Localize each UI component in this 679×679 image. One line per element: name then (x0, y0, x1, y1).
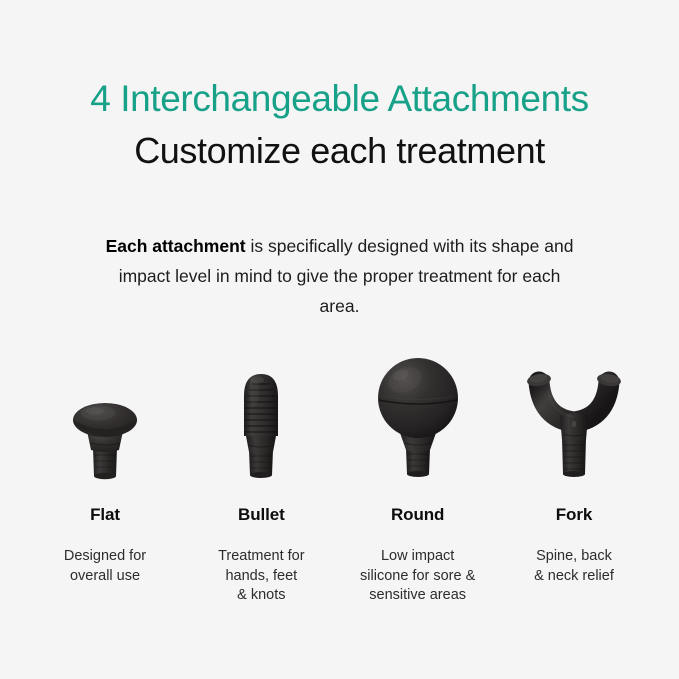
attachment-label-bullet: Bullet (238, 505, 285, 525)
attachment-label-round: Round (391, 505, 444, 525)
bullet-attachment-icon (236, 370, 286, 480)
attachment-label-flat: Flat (90, 505, 120, 525)
attachment-description-round: Low impact silicone for sore & sensitive… (338, 547, 498, 606)
page-title: 4 Interchangeable Attachments (0, 76, 679, 122)
attachment-description-fork: Spine, back & neck relief (494, 547, 654, 586)
fork-attachment-icon (520, 360, 628, 480)
attachment-item-round: Round Low impact silicone for sore & sen… (340, 345, 496, 606)
flat-figure-wrap (27, 345, 183, 480)
attachment-item-bullet: Bullet Treatment for hands, feet & knots (183, 345, 339, 606)
bullet-figure-wrap (183, 345, 339, 480)
intro-lead-bold: Each attachment (106, 236, 246, 256)
round-attachment-icon (372, 354, 464, 480)
intro-paragraph: Each attachment is specifically designed… (105, 231, 575, 321)
attachment-grid: Flat Designed for overall use (0, 345, 679, 606)
flat-attachment-icon (66, 388, 144, 480)
headline-block: 4 Interchangeable Attachments Customize … (0, 76, 679, 174)
attachment-item-flat: Flat Designed for overall use (27, 345, 183, 586)
attachment-item-fork: Fork Spine, back & neck relief (496, 345, 652, 586)
attachment-description-flat: Designed for overall use (25, 547, 185, 586)
round-figure-wrap (340, 345, 496, 480)
fork-figure-wrap (496, 345, 652, 480)
page-subtitle: Customize each treatment (0, 128, 679, 174)
attachment-description-bullet: Treatment for hands, feet & knots (181, 547, 341, 606)
attachment-label-fork: Fork (556, 505, 592, 525)
product-feature-page: 4 Interchangeable Attachments Customize … (0, 0, 679, 679)
